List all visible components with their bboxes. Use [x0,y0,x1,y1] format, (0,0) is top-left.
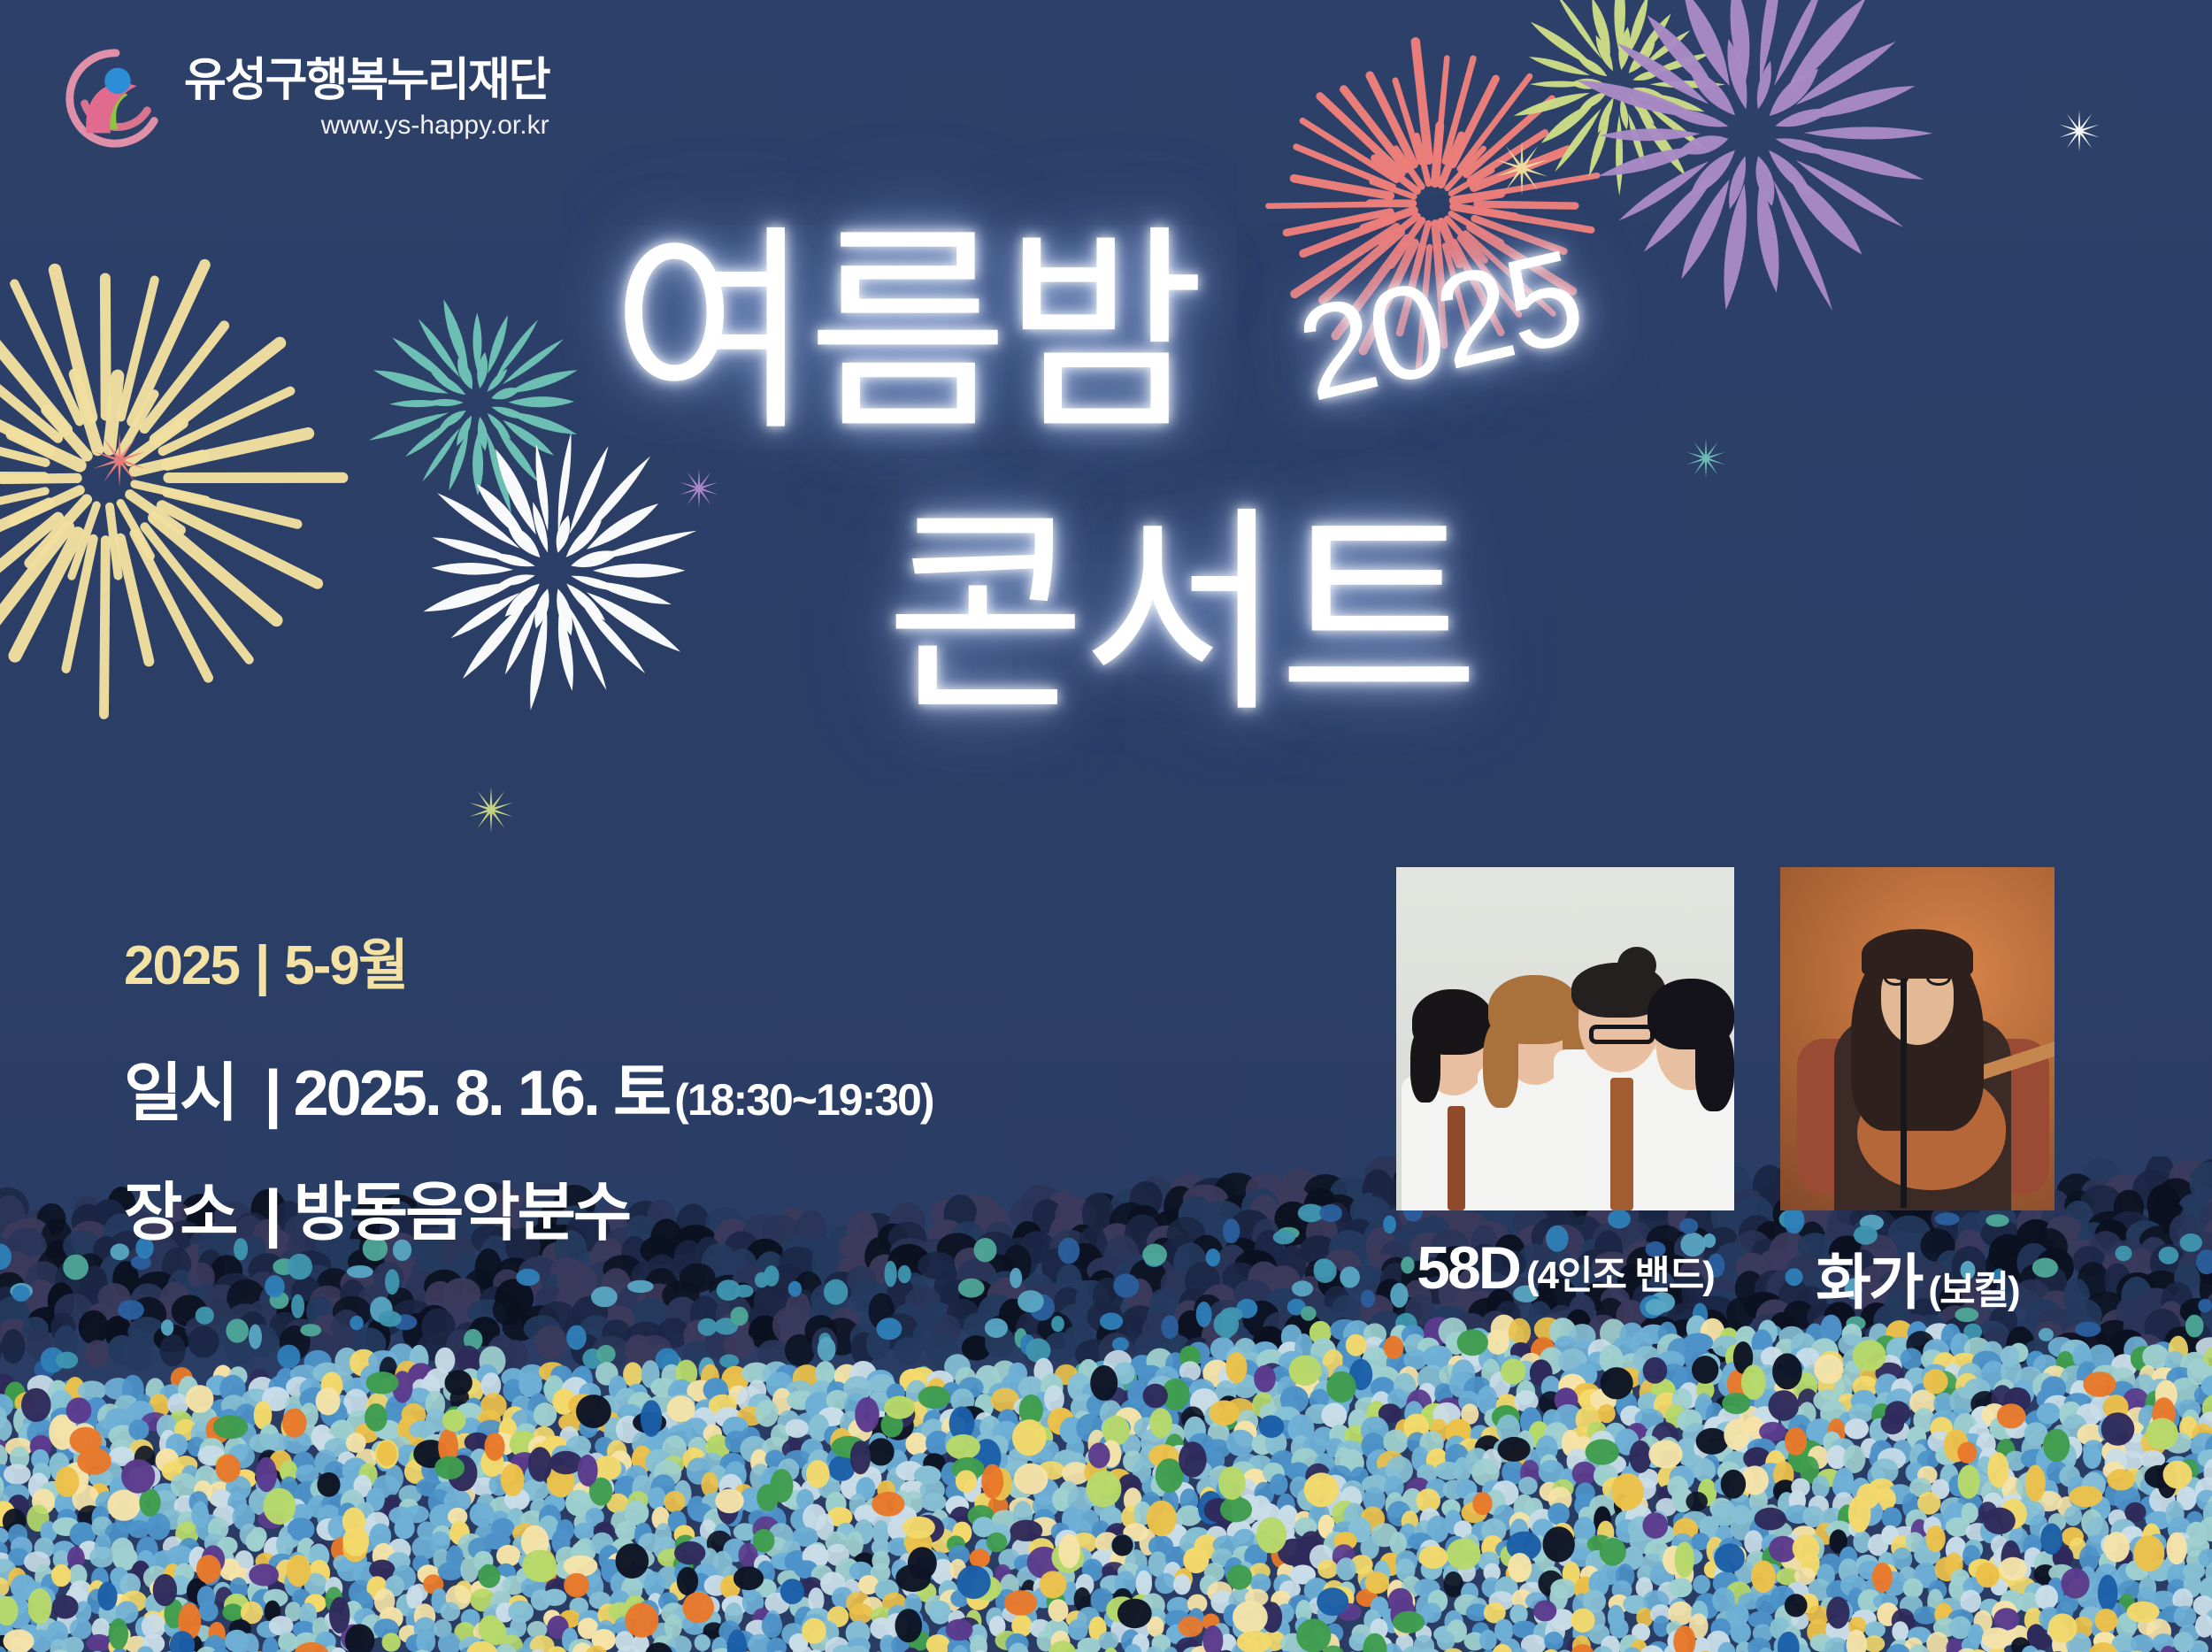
datetime-value: 2025. 8. 16. 토 [294,1041,670,1133]
artist-role: (보컬) [1928,1258,2018,1315]
sparkle-lilac [680,468,718,509]
artist-caption: 화가 (보컬) [1816,1233,2018,1321]
artist-name: 화가 [1816,1233,1921,1321]
foundation-url: www.ys-happy.or.kr [184,112,549,139]
firework-yellow-large [0,265,342,714]
event-info-block: 2025 | 5-9월 일시 | 2025. 8. 16. 토 (18:30~1… [124,920,933,1279]
datetime-row: 일시 | 2025. 8. 16. 토 (18:30~19:30) [124,1041,933,1133]
season-year: 2025 [124,934,239,997]
datetime-separator: | [264,1057,279,1130]
season-range: 5-9월 [284,920,407,1000]
artist-role: (4인조 밴드) [1526,1243,1714,1300]
venue-separator: | [264,1177,279,1249]
foundation-name: 유성구행복누리재단 [184,58,549,104]
venue-label: 장소 [124,1160,235,1253]
sparkle-white [2059,110,2100,152]
artist-caption: 58D (4인조 밴드) [1417,1233,1714,1302]
season-row: 2025 | 5-9월 [124,920,933,1000]
datetime-label: 일시 [124,1041,235,1133]
sparkle-lime [469,787,512,833]
female-vocalist-with-guitar-photo [1780,867,2055,1210]
crowd-bright-band [0,1315,2212,1652]
venue-row: 장소 | 방동음악분수 [124,1160,933,1253]
poster-title-line-1: 여름밤 [611,223,1200,442]
firework-teal-small [369,299,578,513]
artist-card: 화가 (보컬) [1780,867,2055,1321]
four-member-band-photo [1396,867,1734,1210]
season-separator: | [255,934,268,997]
concert-poster: 유성구행복누리재단 www.ys-happy.or.kr 여름밤 2025 콘서… [0,0,2212,1652]
firework-white-medium [424,433,697,711]
artist-card: 58D (4인조 밴드) [1396,867,1734,1302]
foundation-logo: 유성구행복누리재단 www.ys-happy.or.kr [64,46,549,150]
datetime-time-range: (18:30~19:30) [674,1074,933,1126]
poster-title-line-2: 콘서트 [885,504,1474,724]
venue-value: 방동음악분수 [294,1160,629,1253]
artist-lineup: 58D (4인조 밴드) 화가 [1396,867,2055,1321]
ys-happy-foundation-emblem-icon [64,46,168,150]
sparkle-teal [1686,438,1725,479]
artist-name: 58D [1417,1233,1519,1302]
